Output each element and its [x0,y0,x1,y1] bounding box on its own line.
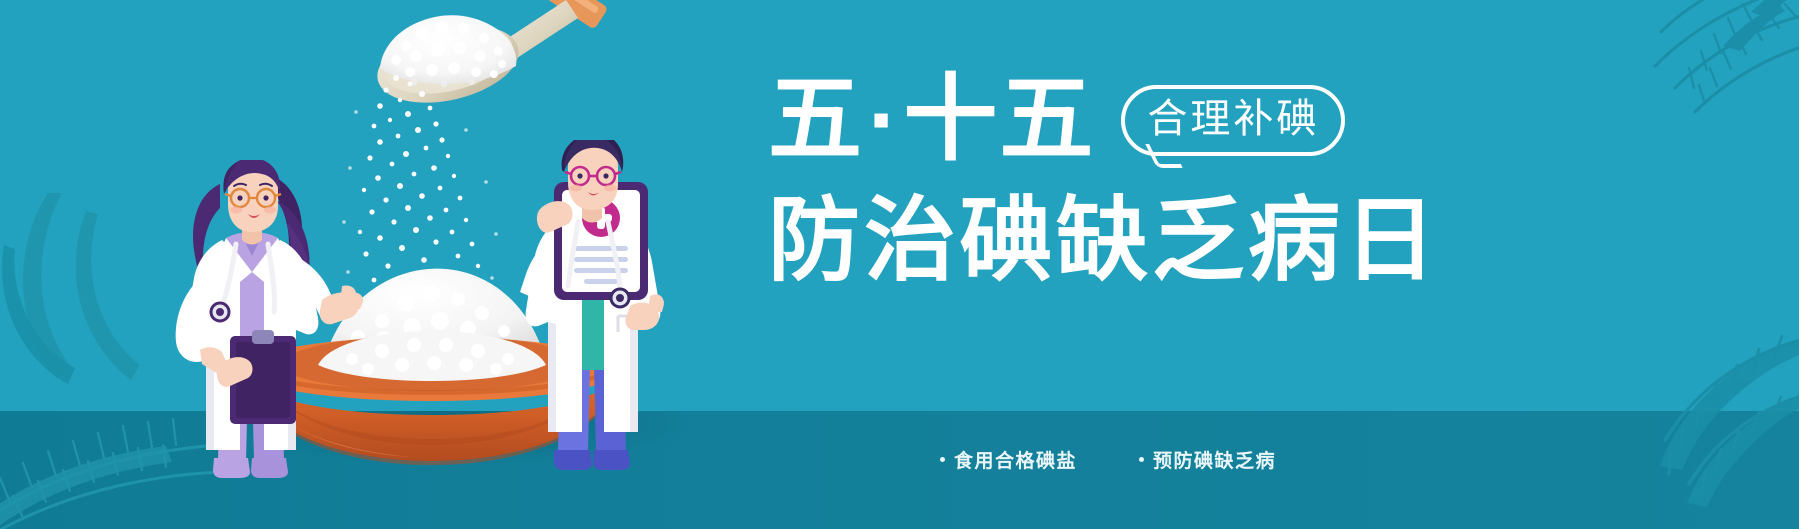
speech-bubble-tail [1145,144,1183,168]
bullet-dot-icon [940,457,945,462]
bullet-item-1: 食用合格碘盐 [940,446,1077,473]
bullet-label-2: 预防碘缺乏病 [1153,446,1276,473]
bullet-item-2: 预防碘缺乏病 [1139,446,1276,473]
page-title: 防治碘缺乏病日 [768,190,1428,292]
headline-block: 五 · 十五 合理补碘 防治碘缺乏病日 [768,68,1428,292]
slogan-badge: 合理补碘 [1121,85,1345,156]
bullet-label-1: 食用合格碘盐 [954,446,1077,473]
male-doctor [498,140,688,475]
date-line: 五 · 十五 合理补碘 [768,68,1428,172]
date-part-a: 五 [768,68,864,172]
female-doctor [136,160,366,485]
bullet-dot-icon [1139,457,1144,462]
slogan-bullets: 食用合格碘盐 预防碘缺乏病 [940,446,1276,473]
iodine-deficiency-day-banner: 五 · 十五 合理补碘 防治碘缺乏病日 食用合格碘盐 预防碘缺乏病 [0,0,1799,529]
slogan-badge-label: 合理补碘 [1147,96,1319,142]
date-part-b: 十五 [903,68,1095,172]
date-separator: · [864,68,903,172]
